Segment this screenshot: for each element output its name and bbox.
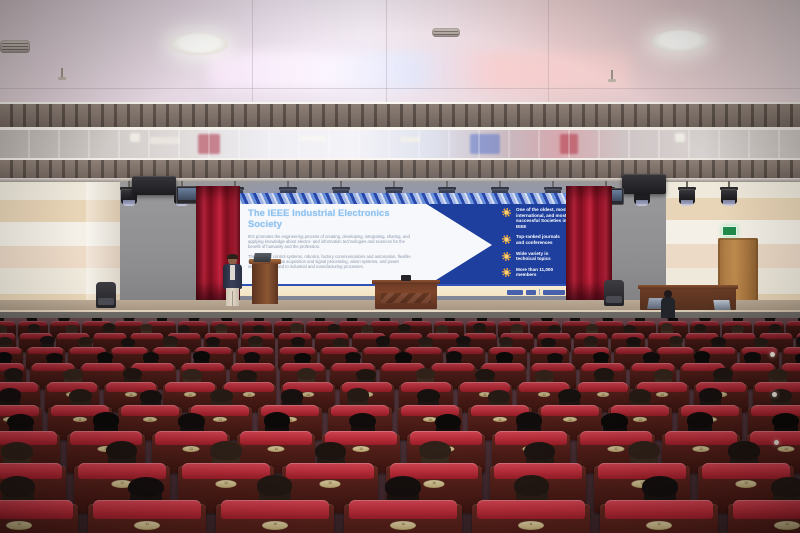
- audience-seat[interactable]: 13: [728, 504, 800, 533]
- seat-number-plate: 16: [423, 480, 444, 488]
- seat-number: 14: [656, 392, 668, 396]
- seat-cushion: [723, 333, 754, 339]
- mirror-reflection-curtain: [560, 134, 578, 154]
- table-microphone: [401, 275, 411, 281]
- seat-number: 12: [646, 521, 672, 530]
- ceiling-color-wash: [210, 52, 630, 90]
- seat-number: 15: [262, 521, 288, 530]
- slide-footer-logos: [507, 289, 565, 295]
- seat-number: 15: [319, 480, 340, 488]
- presenter-hair: [227, 254, 238, 259]
- seat-cushion: [541, 405, 600, 416]
- seat-number-plate: 13: [6, 521, 32, 530]
- seat-number-plate: 13: [735, 480, 756, 488]
- seat-number-plate: 12: [563, 417, 577, 422]
- seat-number: 11: [493, 417, 507, 422]
- seat-number: 13: [774, 521, 800, 530]
- mirror-reflection: [150, 137, 180, 144]
- seat-number: 16: [390, 521, 416, 530]
- seat-cushion: [93, 500, 202, 519]
- presenter: [222, 255, 244, 305]
- seat-number: 13: [735, 480, 756, 488]
- seat-number: 13: [633, 417, 647, 422]
- mirror-reflection-curtain: [198, 134, 220, 154]
- aisle-step-light: [770, 352, 775, 357]
- ceiling-vent-center: [432, 28, 460, 37]
- auditorium-photo: The IEEE Industrial Electronics Society …: [0, 0, 800, 533]
- aisle-step-light: [772, 392, 777, 397]
- seat-cushion: [0, 500, 73, 519]
- seat-number: 12: [184, 392, 196, 396]
- seat-number-plate: 13: [692, 446, 709, 452]
- slide-bullet-text: Wide variety in technical topics: [516, 251, 568, 262]
- seat-number: 13: [692, 446, 709, 452]
- audience-seat[interactable]: 16: [344, 504, 462, 533]
- seat-number-plate: 13: [597, 392, 609, 396]
- seat-number-plate: 12: [184, 392, 196, 396]
- seat-number-plate: 11: [518, 521, 544, 530]
- seat-number: 13: [597, 392, 609, 396]
- mirror-reflection: [400, 137, 420, 142]
- sprinkler-right-head: [608, 79, 616, 82]
- control-desk-laptop: [713, 300, 730, 310]
- seat-cushion: [605, 500, 714, 519]
- presenter-shirt: [230, 265, 235, 280]
- audience-seating-area: 1516111213141516111213141516161112131415…: [0, 318, 800, 533]
- aisle-step-light: [774, 440, 779, 445]
- seat-cushion: [240, 431, 312, 444]
- slide-decorative-band: [240, 193, 570, 204]
- stage-light-fixture: [718, 181, 740, 207]
- seat-number-plate: 13: [182, 446, 199, 452]
- seat-cushion: [784, 347, 800, 354]
- seat-number: 14: [302, 392, 314, 396]
- mirror-reflection-screen: [470, 134, 500, 154]
- mirror-reflection-light: [130, 133, 140, 142]
- stage-chair-left: [96, 282, 116, 308]
- stage-light-fixture: [676, 181, 698, 207]
- seat-cushion: [432, 363, 474, 371]
- stage-chair-right: [604, 280, 624, 306]
- stage-table: [375, 283, 437, 309]
- seat-cushion: [406, 347, 442, 354]
- seat-cushion: [82, 363, 124, 371]
- sunburst-star-icon: [502, 268, 511, 277]
- seat-cushion: [532, 347, 568, 354]
- seat-number-plate: 15: [352, 446, 369, 452]
- seat-number: 12: [538, 392, 550, 396]
- seat-cushion: [665, 431, 737, 444]
- slide-bullet-item: One of the oldest, most international, a…: [502, 207, 568, 229]
- seat-number: 13: [213, 417, 227, 422]
- slide-paragraph: IES promotes the engineering process of …: [248, 234, 413, 250]
- control-desk-top: [638, 285, 738, 289]
- seat-cushion: [221, 500, 330, 519]
- seat-number: 14: [134, 521, 160, 530]
- seat-cushion: [732, 363, 774, 371]
- seat-cushion: [598, 463, 686, 479]
- sunburst-star-icon: [502, 252, 511, 261]
- seat-cushion: [78, 463, 166, 479]
- seat-cushion: [224, 382, 274, 392]
- audience-seat[interactable]: 14: [88, 504, 206, 533]
- mirror-reflection-light: [675, 133, 685, 142]
- seat-number-plate: 14: [656, 392, 668, 396]
- seat-cushion: [371, 321, 399, 326]
- logo-divider: [539, 289, 540, 295]
- logo-mark: [507, 290, 523, 295]
- hanging-speaker-left: [132, 176, 176, 195]
- audience-seat[interactable]: 15: [216, 504, 334, 533]
- ceiling-vent-left: [0, 40, 30, 53]
- seat-number-plate: 12: [143, 417, 157, 422]
- seat-number: 11: [73, 417, 87, 422]
- slide-bullet-text: More than 11,000 members: [516, 267, 568, 278]
- seat-number-plate: 13: [774, 521, 800, 530]
- seat-number: 12: [143, 417, 157, 422]
- seat-number-plate: 14: [267, 446, 284, 452]
- seat-number: 12: [563, 417, 577, 422]
- reflective-ceiling-band: [0, 130, 800, 160]
- seat-number-plate: 16: [390, 521, 416, 530]
- seat-cushion: [94, 333, 125, 339]
- seat-number-plate: 14: [134, 521, 160, 530]
- seat-cushion: [733, 500, 800, 519]
- seat-cushion: [131, 333, 162, 339]
- seat-number-plate: 13: [243, 392, 255, 396]
- slide-bullet-item: More than 11,000 members: [502, 267, 568, 278]
- seat-number-plate: 15: [262, 521, 288, 530]
- seat-cushion: [349, 500, 458, 519]
- sunburst-star-icon: [502, 208, 511, 217]
- seat-number-plate: 15: [319, 480, 340, 488]
- seat-number-plate: 14: [777, 446, 794, 452]
- seat-cushion: [702, 463, 790, 479]
- seat-number: 12: [607, 446, 624, 452]
- seat-cushion: [286, 463, 374, 479]
- seat-number: 14: [267, 446, 284, 452]
- seat-cushion: [658, 347, 694, 354]
- seat-cushion: [112, 347, 148, 354]
- seat-cushion: [578, 382, 628, 392]
- ceiling-seam: [0, 88, 800, 89]
- seat-number-plate: 11: [73, 417, 87, 422]
- seat-cushion: [364, 347, 400, 354]
- seat-number: 14: [215, 480, 236, 488]
- podium-laptop: [253, 253, 271, 262]
- audience-seat[interactable]: 13: [0, 504, 78, 533]
- mirror-reflection: [300, 136, 326, 141]
- seat-number-plate: 11: [125, 392, 137, 396]
- seat-number: 15: [352, 446, 369, 452]
- seat-cushion: [165, 382, 215, 392]
- seat-number: 11: [125, 392, 137, 396]
- logo-mark: [543, 290, 565, 295]
- hanging-speaker-right: [622, 174, 666, 194]
- audience-seat[interactable]: 11: [472, 504, 590, 533]
- sprinkler-left-head: [58, 77, 66, 80]
- seat-cushion: [182, 463, 270, 479]
- seat-cushion: [154, 347, 190, 354]
- seat-number-plate: 12: [607, 446, 624, 452]
- seat-cushion: [390, 333, 421, 339]
- slide-bullet-item: Top-ranked journals and conferences: [502, 234, 568, 245]
- audience-seat[interactable]: 12: [600, 504, 718, 533]
- table-carved-panel: [381, 293, 431, 303]
- slide-bullet-list: One of the oldest, most international, a…: [502, 207, 568, 283]
- seat-number-plate: 11: [493, 417, 507, 422]
- seat-number: 14: [777, 446, 794, 452]
- seat-number-plate: 13: [213, 417, 227, 422]
- seat-cushion: [121, 405, 180, 416]
- seat-cushion: [427, 333, 458, 339]
- podium: [252, 262, 278, 304]
- slide-bullet-item: Wide variety in technical topics: [502, 251, 568, 262]
- seat-number-plate: 14: [215, 480, 236, 488]
- recessed-oval-light-right: [652, 30, 708, 52]
- recessed-oval-light-left: [170, 33, 228, 55]
- slide-bullet-text: Top-ranked journals and conferences: [516, 234, 568, 245]
- seat-cushion: [787, 321, 800, 326]
- slide-title: The IEEE Industrial Electronics Society: [248, 208, 398, 229]
- ceiling: [0, 0, 800, 104]
- seat-number: 16: [423, 480, 444, 488]
- sunburst-star-icon: [502, 235, 511, 244]
- seat-cushion: [595, 321, 623, 326]
- presenter-trousers: [226, 288, 239, 306]
- av-operator: [661, 290, 675, 320]
- seat-number: 13: [243, 392, 255, 396]
- seat-number: 13: [6, 521, 32, 530]
- seat-cushion: [115, 321, 143, 326]
- slide-bullet-text: One of the oldest, most international, a…: [516, 207, 568, 229]
- seat-number-plate: 12: [646, 521, 672, 530]
- seat-number: 13: [182, 446, 199, 452]
- seat-cushion: [477, 500, 586, 519]
- seat-number-plate: 14: [302, 392, 314, 396]
- seat-number-plate: 13: [633, 417, 647, 422]
- seat-number: 11: [518, 521, 544, 530]
- logo-mark: [526, 290, 536, 295]
- exit-sign: [722, 226, 737, 236]
- seat-number-plate: 12: [538, 392, 550, 396]
